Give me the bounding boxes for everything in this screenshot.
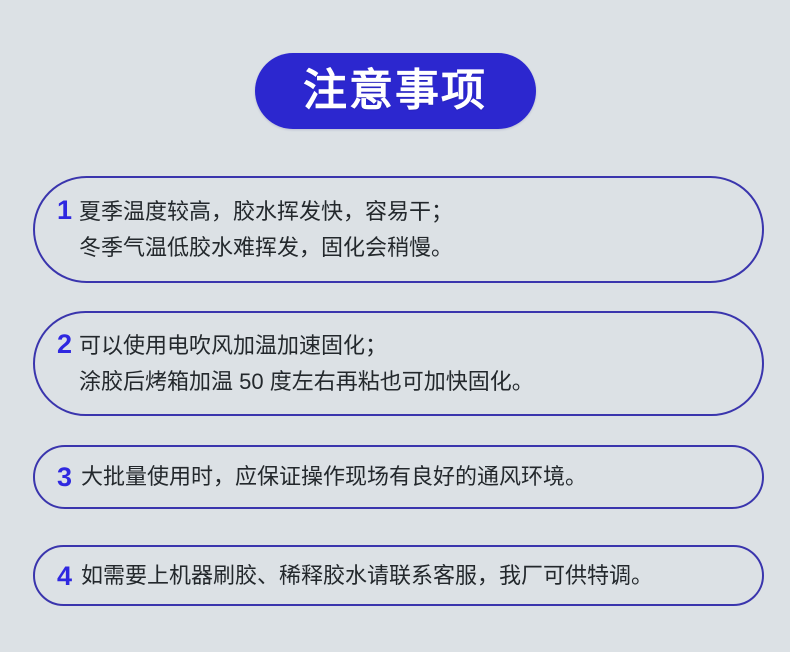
note-item-1-lines: 夏季温度较高，胶水挥发快，容易干； 冬季气温低胶水难挥发，固化会稍慢。 bbox=[79, 194, 744, 266]
note-item-1: 1 夏季温度较高，胶水挥发快，容易干； 冬季气温低胶水难挥发，固化会稍慢。 bbox=[33, 176, 764, 283]
note-item-2-line-2: 涂胶后烤箱加温 50 度左右再粘也可加快固化。 bbox=[79, 364, 744, 400]
note-item-1-line-2: 冬季气温低胶水难挥发，固化会稍慢。 bbox=[79, 230, 744, 266]
page-title: 注意事项 bbox=[303, 69, 487, 113]
note-item-1-number: 1 bbox=[57, 194, 72, 227]
note-item-4-content: 4 如需要上机器刷胶、稀释胶水请联系客服，我厂可供特调。 bbox=[35, 561, 762, 591]
note-item-4: 4 如需要上机器刷胶、稀释胶水请联系客服，我厂可供特调。 bbox=[33, 545, 764, 606]
note-item-3-content: 3 大批量使用时，应保证操作现场有良好的通风环境。 bbox=[35, 462, 762, 492]
note-item-2-line-1: 可以使用电吹风加温加速固化； bbox=[79, 328, 744, 364]
page-title-container: 注意事项 bbox=[0, 53, 790, 129]
note-item-1-line-1: 夏季温度较高，胶水挥发快，容易干； bbox=[79, 194, 744, 230]
note-item-2-number: 2 bbox=[57, 328, 72, 361]
note-item-3: 3 大批量使用时，应保证操作现场有良好的通风环境。 bbox=[33, 445, 764, 509]
note-item-4-number: 4 bbox=[57, 561, 72, 591]
precautions-page: 注意事项 1 夏季温度较高，胶水挥发快，容易干； 冬季气温低胶水难挥发，固化会稍… bbox=[0, 0, 790, 652]
note-item-2: 2 可以使用电吹风加温加速固化； 涂胶后烤箱加温 50 度左右再粘也可加快固化。 bbox=[33, 311, 764, 416]
note-item-4-line-1: 如需要上机器刷胶、稀释胶水请联系客服，我厂可供特调。 bbox=[81, 561, 744, 591]
note-item-3-line-1: 大批量使用时，应保证操作现场有良好的通风环境。 bbox=[81, 462, 744, 492]
note-item-2-lines: 可以使用电吹风加温加速固化； 涂胶后烤箱加温 50 度左右再粘也可加快固化。 bbox=[79, 328, 744, 400]
page-title-pill: 注意事项 bbox=[255, 53, 536, 129]
note-item-4-lines: 如需要上机器刷胶、稀释胶水请联系客服，我厂可供特调。 bbox=[81, 561, 744, 591]
note-item-2-content: 2 可以使用电吹风加温加速固化； 涂胶后烤箱加温 50 度左右再粘也可加快固化。 bbox=[35, 328, 762, 400]
note-item-3-number: 3 bbox=[57, 462, 72, 492]
note-item-1-content: 1 夏季温度较高，胶水挥发快，容易干； 冬季气温低胶水难挥发，固化会稍慢。 bbox=[35, 194, 762, 266]
note-item-3-lines: 大批量使用时，应保证操作现场有良好的通风环境。 bbox=[81, 462, 744, 492]
